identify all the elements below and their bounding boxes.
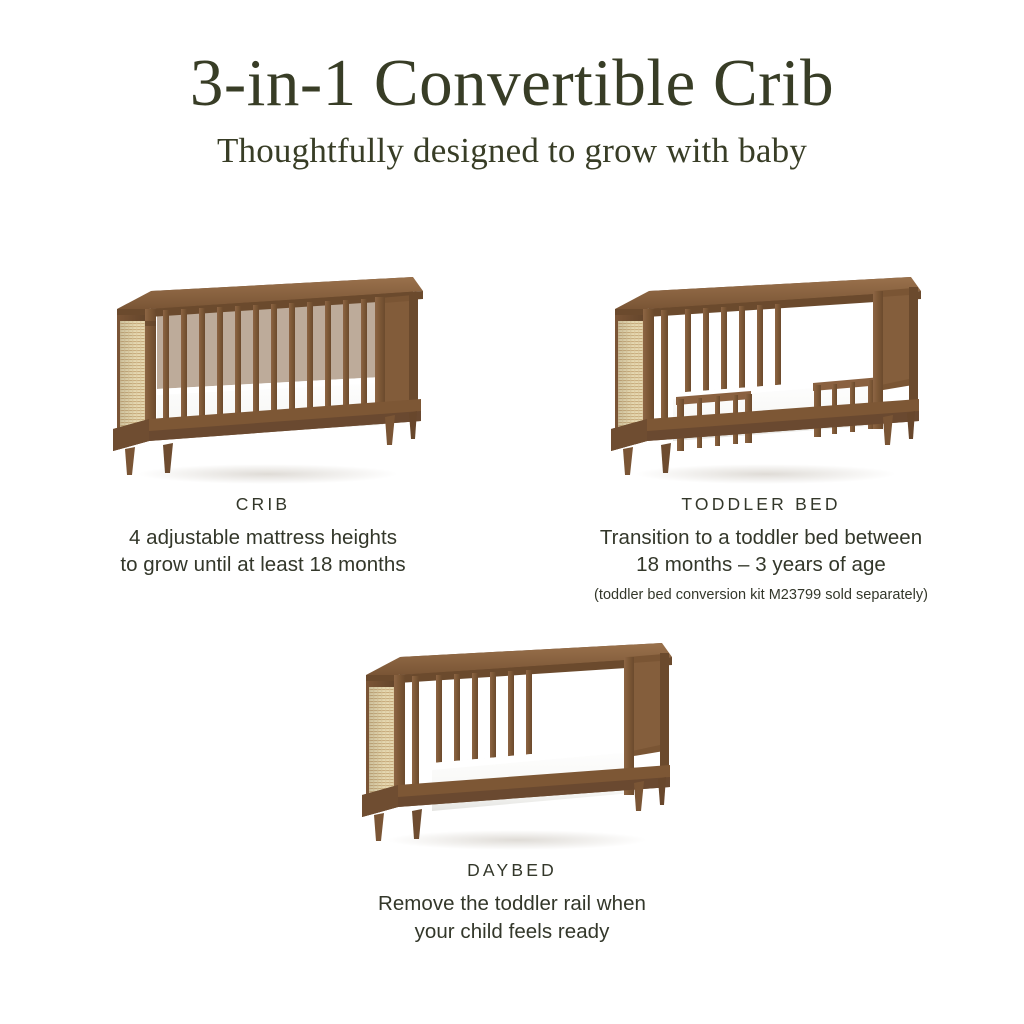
product-infographic: 3-in-1 Convertible Crib Thoughtfully des… xyxy=(0,0,1024,1024)
toddler-bed-desc-line-1: Transition to a toddler bed between xyxy=(546,524,976,551)
crib-description: 4 adjustable mattress heights to grow un… xyxy=(48,515,478,579)
toddler-cane-panel xyxy=(615,315,647,437)
page-title: 3-in-1 Convertible Crib xyxy=(0,0,1024,118)
daybed-left-post xyxy=(394,675,405,803)
daybed-illustration-wrap xyxy=(332,628,692,860)
variant-crib: CRIB 4 adjustable mattress heights to gr… xyxy=(48,262,478,604)
crib-right-back-post xyxy=(409,293,418,413)
toddler-bed-desc-line-2: 18 months – 3 years of age xyxy=(546,551,976,578)
daybed-description: Remove the toddler rail when your child … xyxy=(297,881,727,945)
page-subtitle: Thoughtfully designed to grow with baby xyxy=(0,118,1024,171)
toddler-bed-caption: TODDLER BED Transition to a toddler bed … xyxy=(546,494,976,604)
daybed-caption: DAYBED Remove the toddler rail when your… xyxy=(297,860,727,945)
daybed-label: DAYBED xyxy=(297,860,727,881)
variant-daybed: DAYBED Remove the toddler rail when your… xyxy=(297,628,727,945)
crib-cane-panel xyxy=(117,315,149,437)
variant-toddler-bed: TODDLER BED Transition to a toddler bed … xyxy=(546,262,976,604)
crib-illustration xyxy=(83,269,443,494)
daybed-desc-line-1: Remove the toddler rail when xyxy=(297,890,727,917)
toddler-bed-illustration xyxy=(581,269,941,494)
toddler-left-post xyxy=(643,309,654,437)
crib-caption: CRIB 4 adjustable mattress heights to gr… xyxy=(48,494,478,579)
crib-label: CRIB xyxy=(48,494,478,515)
daybed-right-back-post xyxy=(660,653,669,779)
crib-joint-mark xyxy=(145,321,156,326)
header: 3-in-1 Convertible Crib Thoughtfully des… xyxy=(0,0,1024,171)
daybed-illustration xyxy=(332,635,692,860)
crib-desc-line-1: 4 adjustable mattress heights xyxy=(48,524,478,551)
toddler-right-back-post xyxy=(909,287,918,413)
variant-row-bottom: DAYBED Remove the toddler rail when your… xyxy=(0,628,1024,945)
toddler-bed-description: Transition to a toddler bed between 18 m… xyxy=(546,515,976,579)
floor-shadow xyxy=(138,464,398,484)
crib-desc-line-2: to grow until at least 18 months xyxy=(48,551,478,578)
crib-left-post xyxy=(145,309,156,437)
floor-shadow xyxy=(387,830,647,850)
floor-shadow xyxy=(636,464,896,484)
variant-grid: CRIB 4 adjustable mattress heights to gr… xyxy=(0,262,1024,945)
toddler-bed-note: (toddler bed conversion kit M23799 sold … xyxy=(546,579,976,605)
toddler-bed-label: TODDLER BED xyxy=(546,494,976,515)
daybed-desc-line-2: your child feels ready xyxy=(297,918,727,945)
toddler-bed-illustration-wrap xyxy=(581,262,941,494)
crib-illustration-wrap xyxy=(83,262,443,494)
variant-row-top: CRIB 4 adjustable mattress heights to gr… xyxy=(0,262,1024,604)
daybed-cane-panel xyxy=(366,681,398,803)
